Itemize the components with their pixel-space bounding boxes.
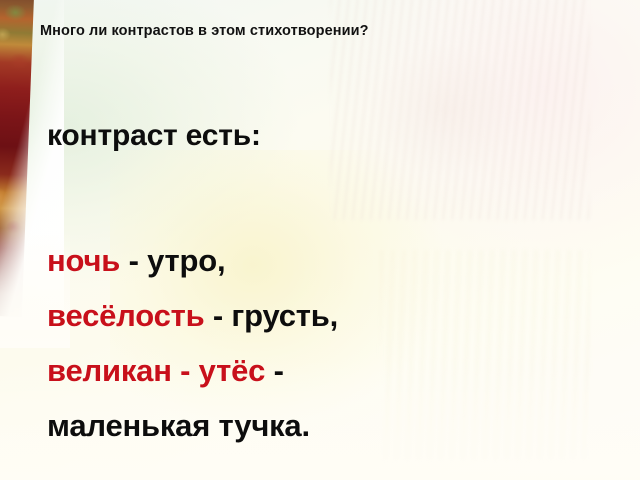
slide-lead-text: контраст есть: bbox=[47, 119, 261, 152]
contrast-term-black: маленькая тучка. bbox=[47, 408, 310, 443]
slide-canvas: Много ли контрастов в этом стихотворении… bbox=[0, 0, 640, 480]
contrast-term-red: великан - утёс bbox=[47, 353, 265, 388]
contrast-pair-line: весёлость - грусть, bbox=[47, 288, 627, 343]
slide-question-heading: Много ли контрастов в этом стихотворении… bbox=[40, 22, 600, 40]
contrast-pair-line: маленькая тучка. bbox=[47, 398, 627, 453]
contrast-term-black: - грусть, bbox=[204, 298, 338, 333]
contrast-term-black: - bbox=[265, 353, 284, 388]
autumn-photo-strip-image bbox=[0, 0, 34, 317]
contrast-term-black: - утро, bbox=[120, 243, 225, 278]
contrast-pair-list: ночь - утро, весёлость - грусть, великан… bbox=[47, 233, 627, 453]
contrast-pair-line: великан - утёс - bbox=[47, 343, 627, 398]
contrast-pair-line: ночь - утро, bbox=[47, 233, 627, 288]
contrast-term-red: весёлость bbox=[47, 298, 204, 333]
contrast-term-red: ночь bbox=[47, 243, 120, 278]
